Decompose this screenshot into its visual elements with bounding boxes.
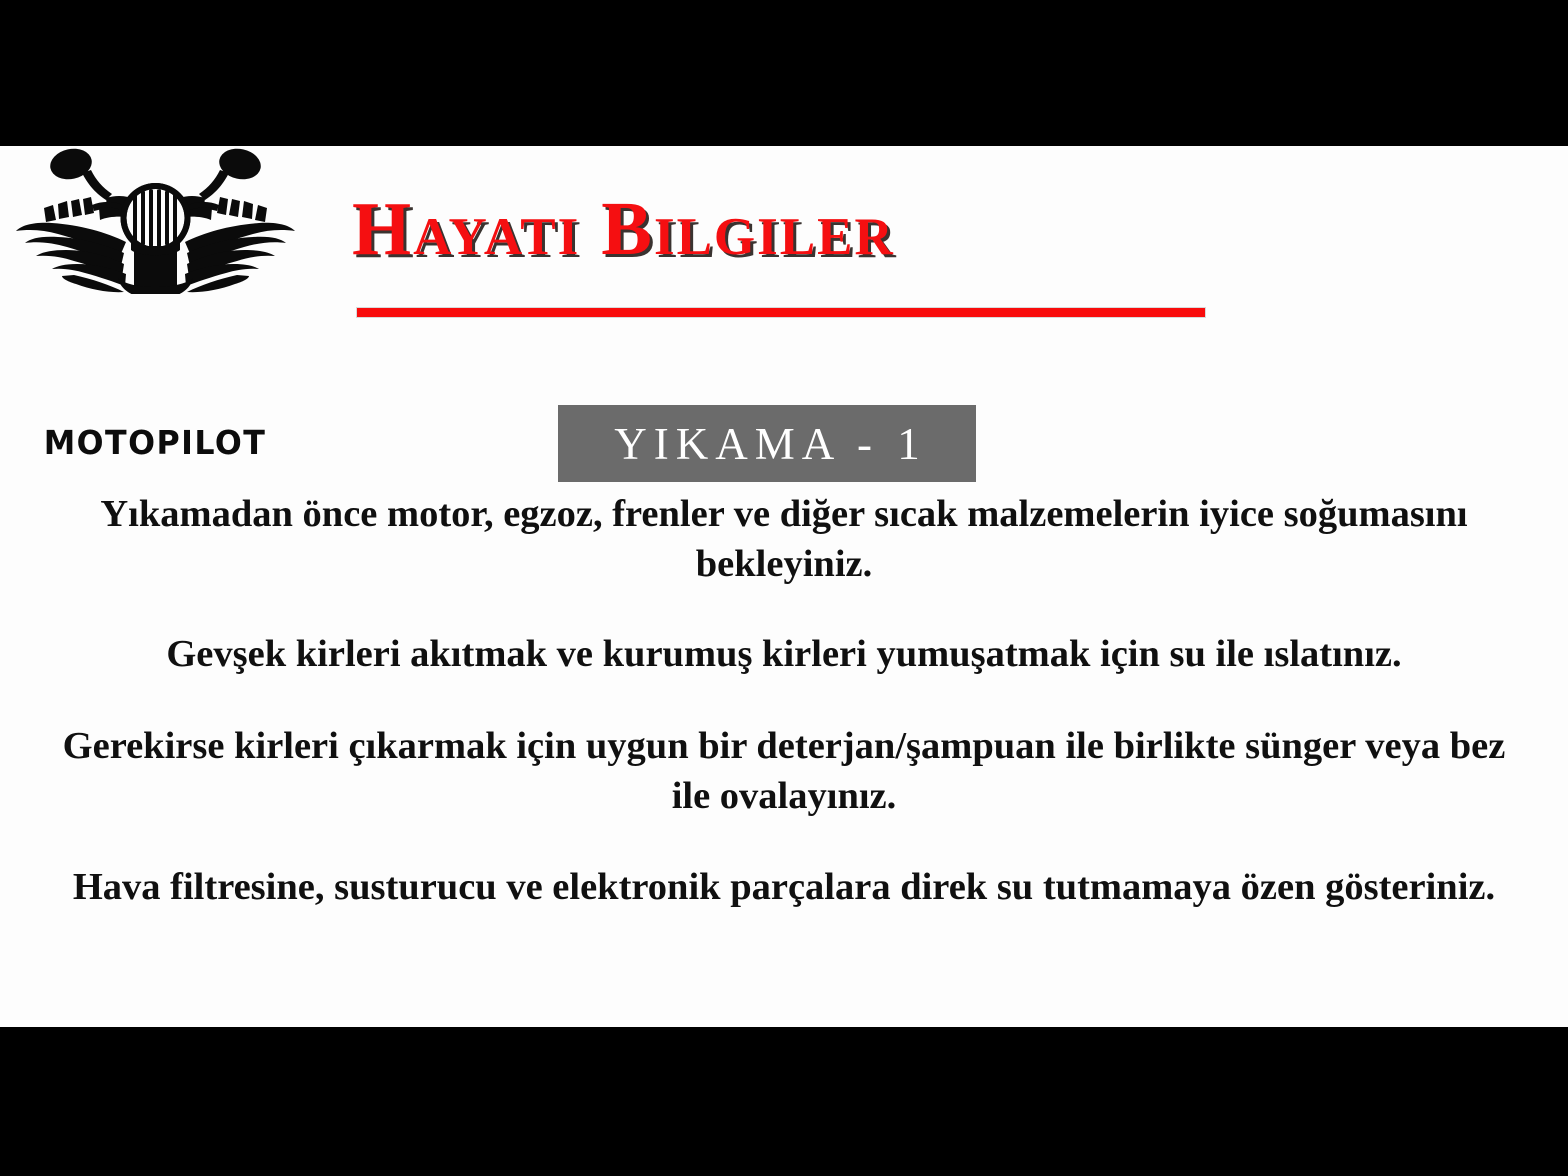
brand-logo: MOTOPILOT bbox=[14, 146, 296, 336]
title-underline-rule bbox=[356, 307, 1206, 318]
slide-root: MOTOPILOT Hayati Bilgiler YIKAMA - 1 Yık… bbox=[0, 0, 1568, 1176]
stencil-cut-upper bbox=[36, 301, 274, 305]
letterbox-bar-top bbox=[0, 0, 1568, 146]
body-text-area: Yıkamadan önce motor, egzoz, frenler ve … bbox=[0, 490, 1568, 913]
slide-content-card: MOTOPILOT Hayati Bilgiler YIKAMA - 1 Yık… bbox=[0, 146, 1568, 1027]
page-title: Hayati Bilgiler bbox=[352, 190, 1212, 270]
instruction-paragraph-4: Hava filtresine, susturucu ve elektronik… bbox=[49, 863, 1519, 913]
instruction-paragraph-3: Gerekirse kirleri çıkarmak için uygun bi… bbox=[39, 722, 1529, 821]
instruction-paragraph-1: Yıkamadan önce motor, egzoz, frenler ve … bbox=[74, 490, 1494, 589]
logo-wordmark: MOTOPILOT bbox=[20, 426, 291, 459]
logo-wordmark-wrap: MOTOPILOT bbox=[14, 286, 296, 326]
letterbox-bar-bottom bbox=[0, 1027, 1568, 1176]
status-badge: YIKAMA - 1 bbox=[558, 405, 976, 482]
instruction-paragraph-2: Gevşek kirleri akıtmak ve kurumuş kirler… bbox=[6, 630, 1562, 680]
stencil-cut-lower bbox=[36, 312, 274, 316]
winged-motorcycle-icon bbox=[14, 146, 296, 294]
